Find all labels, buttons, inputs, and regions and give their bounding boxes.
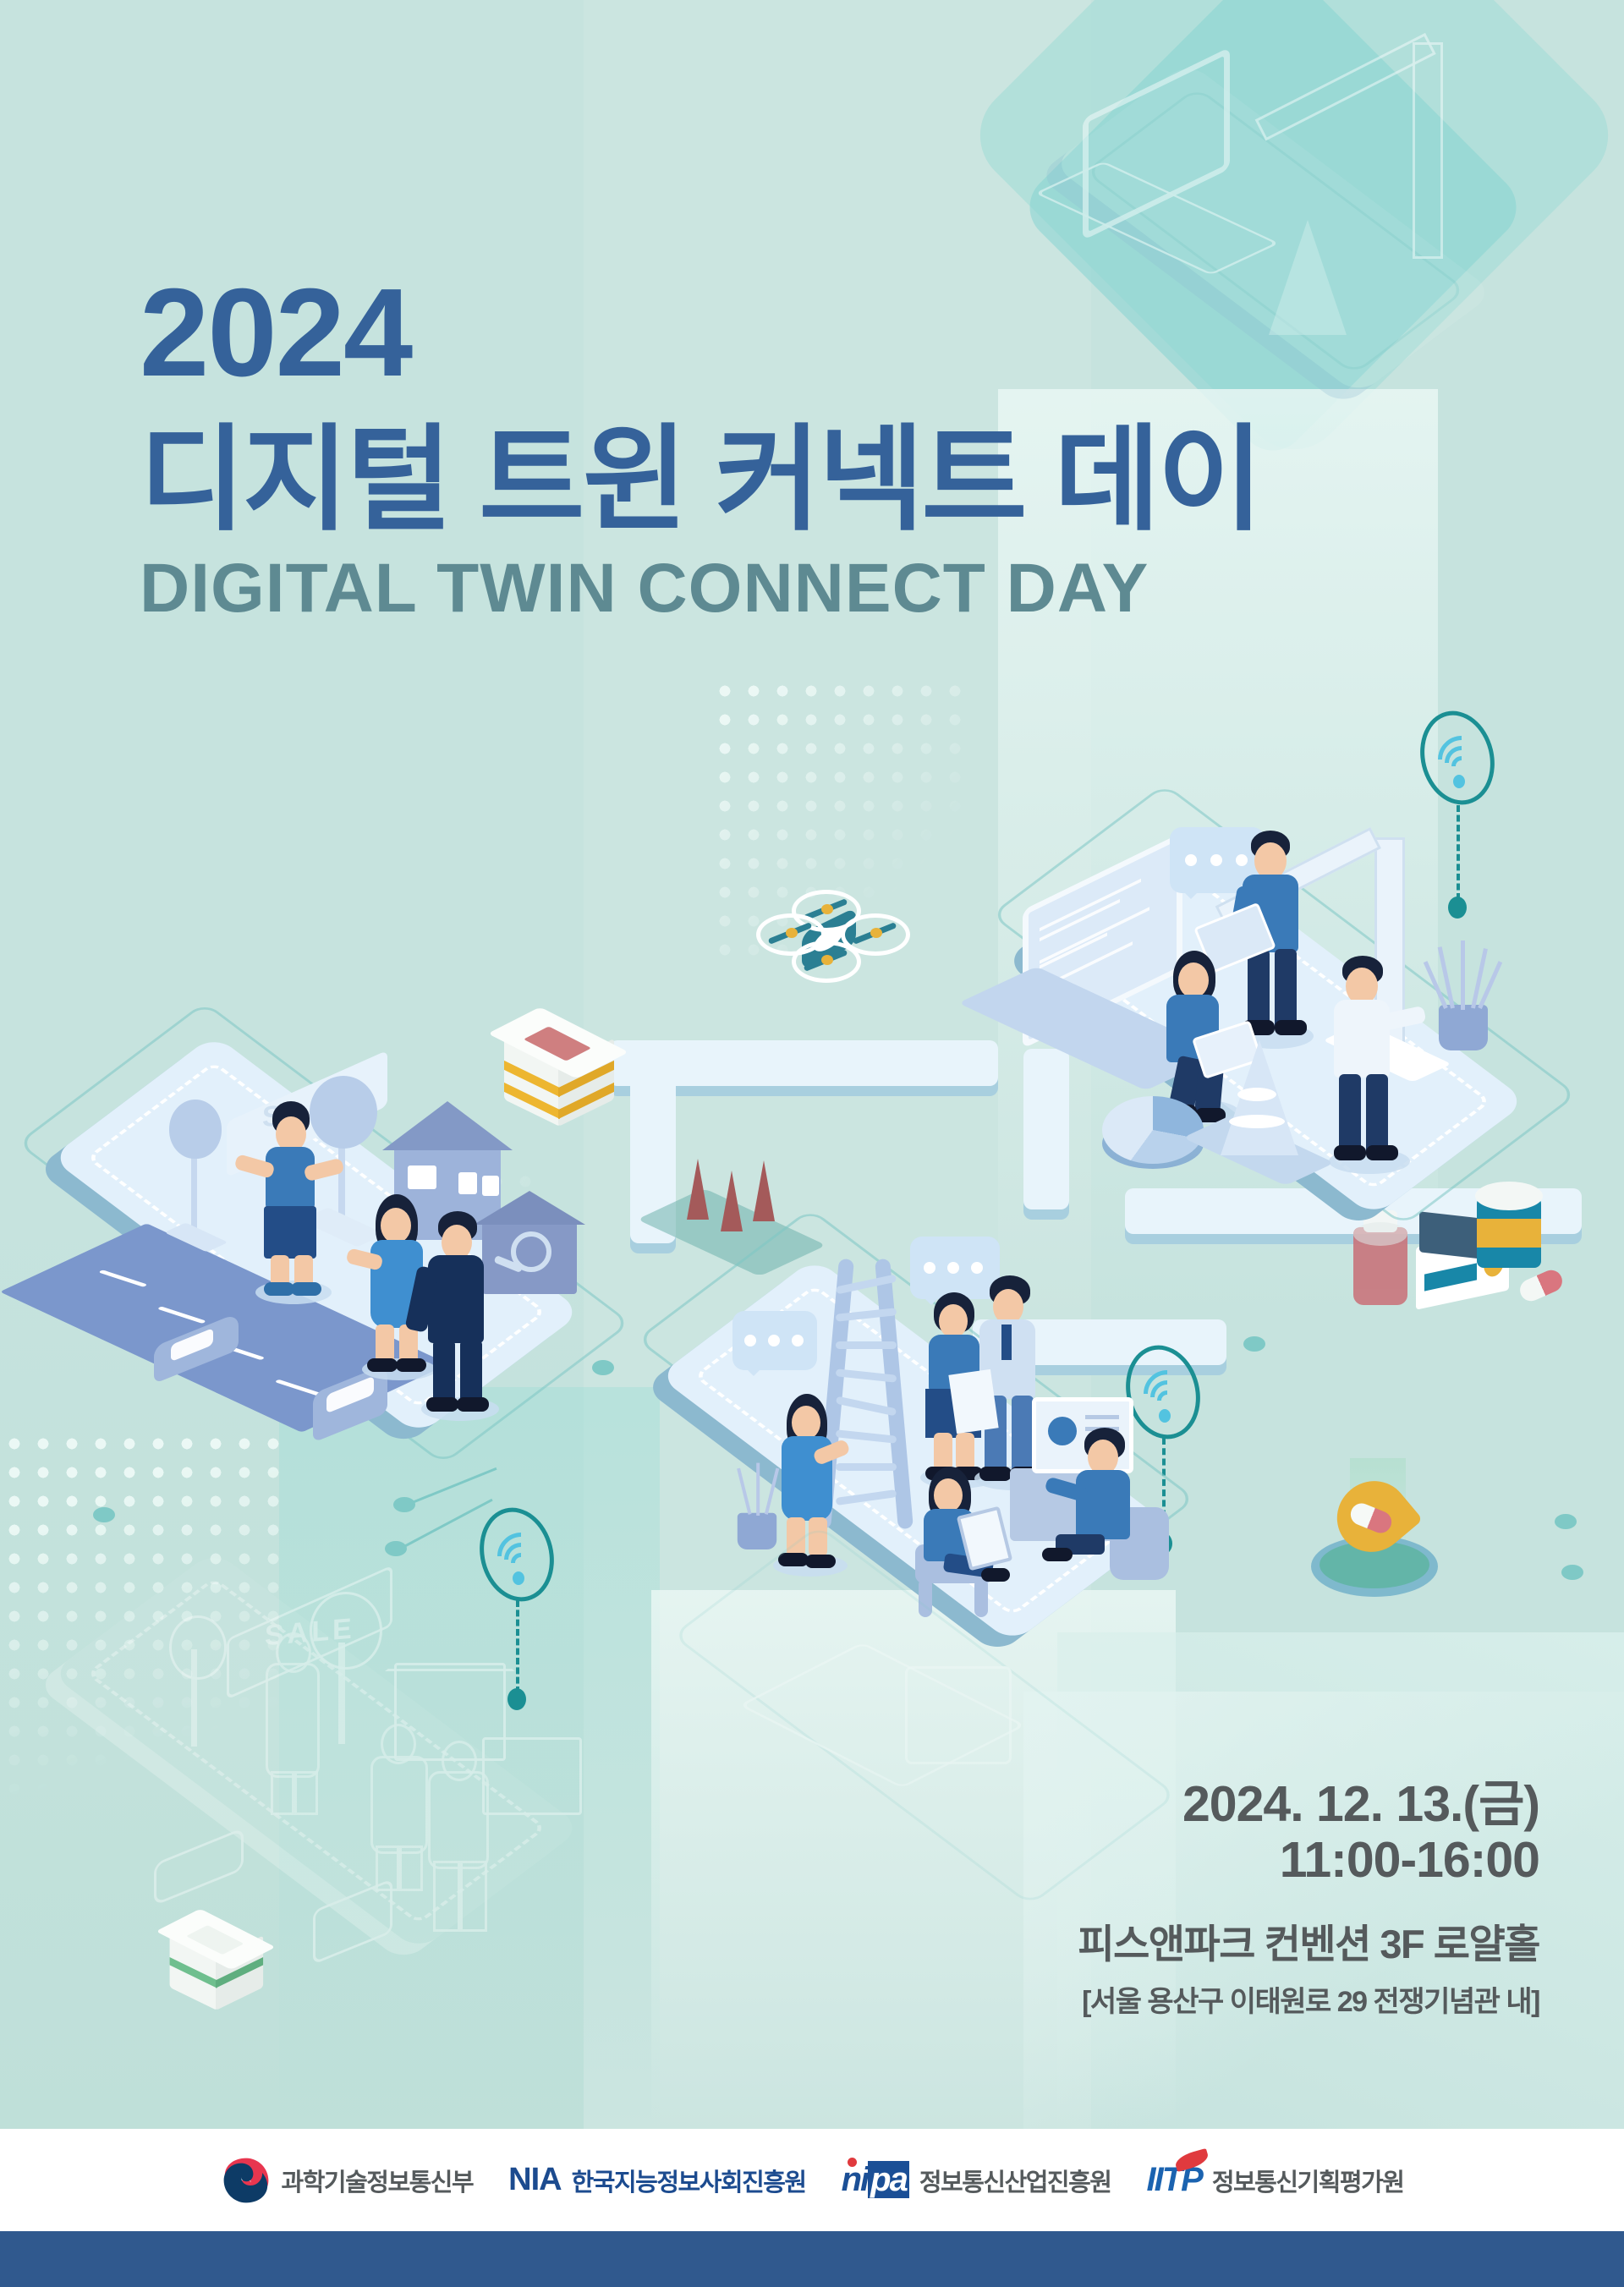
tree-left [169, 1100, 220, 1235]
healthcare-lab-scene [668, 1184, 1226, 1607]
logo-mark-iitp: IITP [1146, 2161, 1201, 2199]
event-address: [서울 용산구 이태원로 29 전쟁기념관 내] [1078, 1978, 1539, 2020]
taegeuk-symbol-icon [221, 2155, 272, 2206]
logo-label-nia: 한국지능정보사회진흥원 [572, 2163, 806, 2198]
event-time: 11:00-16:00 [1078, 1832, 1539, 1888]
logo-msit: 과학기술정보통신부 [221, 2155, 474, 2206]
cone-ring-1 [1237, 1088, 1276, 1101]
logo-label-nipa: 정보통신산업진흥원 [919, 2163, 1111, 2198]
poster-canvas: 2024 디지털 트윈 커넥트 데이 DIGITAL TWIN CONNECT … [0, 0, 1624, 2287]
poster-title-english: DIGITAL TWIN CONNECT DAY [140, 554, 1493, 623]
logo-iitp: IITP 정보통신기획평가원 [1146, 2161, 1403, 2199]
balloon-pin [1303, 1478, 1446, 1605]
ghost-real-estate-scene: SALE [59, 1556, 651, 1954]
person-realtor [414, 1215, 513, 1418]
connector-node-g [1561, 1565, 1583, 1580]
poster-title-korean: 디지털 트윈 커넥트 데이 [140, 420, 1493, 540]
iitp-swoosh-icon [1174, 2148, 1210, 2172]
person-clinician [1064, 1429, 1174, 1599]
ghost-crane-icon [1413, 42, 1443, 259]
person-site-manager [1322, 956, 1424, 1167]
medicine-bottle [1353, 1227, 1407, 1305]
construction-site-scene [1002, 787, 1624, 1226]
person-agent [249, 1106, 348, 1301]
logo-label-msit: 과학기술정보통신부 [282, 2163, 474, 2198]
title-block: 2024 디지털 트윈 커넥트 데이 DIGITAL TWIN CONNECT … [140, 271, 1493, 623]
event-date: 2024. 12. 13.(금) [1078, 1776, 1539, 1832]
logo-label-iitp: 정보통신기획평가원 [1212, 2163, 1404, 2198]
logo-nia: NIA 한국지능정보사회진흥원 [508, 2162, 805, 2198]
event-venue: 피스앤파크 컨벤션 3F 로얄홀 [1078, 1911, 1539, 1970]
drone-icon [753, 888, 905, 990]
capsule-pill [1517, 1267, 1566, 1305]
bottom-accent-bar [0, 2231, 1624, 2287]
connector-node-d [93, 1507, 115, 1522]
logo-mark-nia: NIA [508, 2162, 561, 2198]
connector-node-b [385, 1541, 407, 1556]
ghost-laptop-icon [1066, 83, 1277, 244]
potted-plant-icon [1425, 932, 1501, 1050]
event-info-block: 2024. 12. 13.(금) 11:00-16:00 피스앤파크 컨벤션 3… [1078, 1776, 1539, 2020]
connector-node-f [1555, 1514, 1577, 1529]
poster-year: 2024 [140, 271, 1493, 396]
logo-nipa: nipa 정보통신산업진흥원 [842, 2161, 1111, 2199]
logo-mark-nipa: nipa [842, 2161, 909, 2199]
connector-node-e [1243, 1336, 1265, 1352]
connector-node-a [393, 1497, 415, 1512]
real-estate-street-scene: SALE [59, 1040, 651, 1438]
footer-logo-bar: 과학기술정보통신부 NIA 한국지능정보사회진흥원 nipa 정보통신산업진흥원… [0, 2129, 1624, 2231]
nipa-dot-icon [848, 2158, 857, 2167]
cone-ring-2 [1229, 1115, 1285, 1128]
pie-chart-icon [1102, 1096, 1204, 1164]
chat-bubble-lower [732, 1311, 817, 1370]
